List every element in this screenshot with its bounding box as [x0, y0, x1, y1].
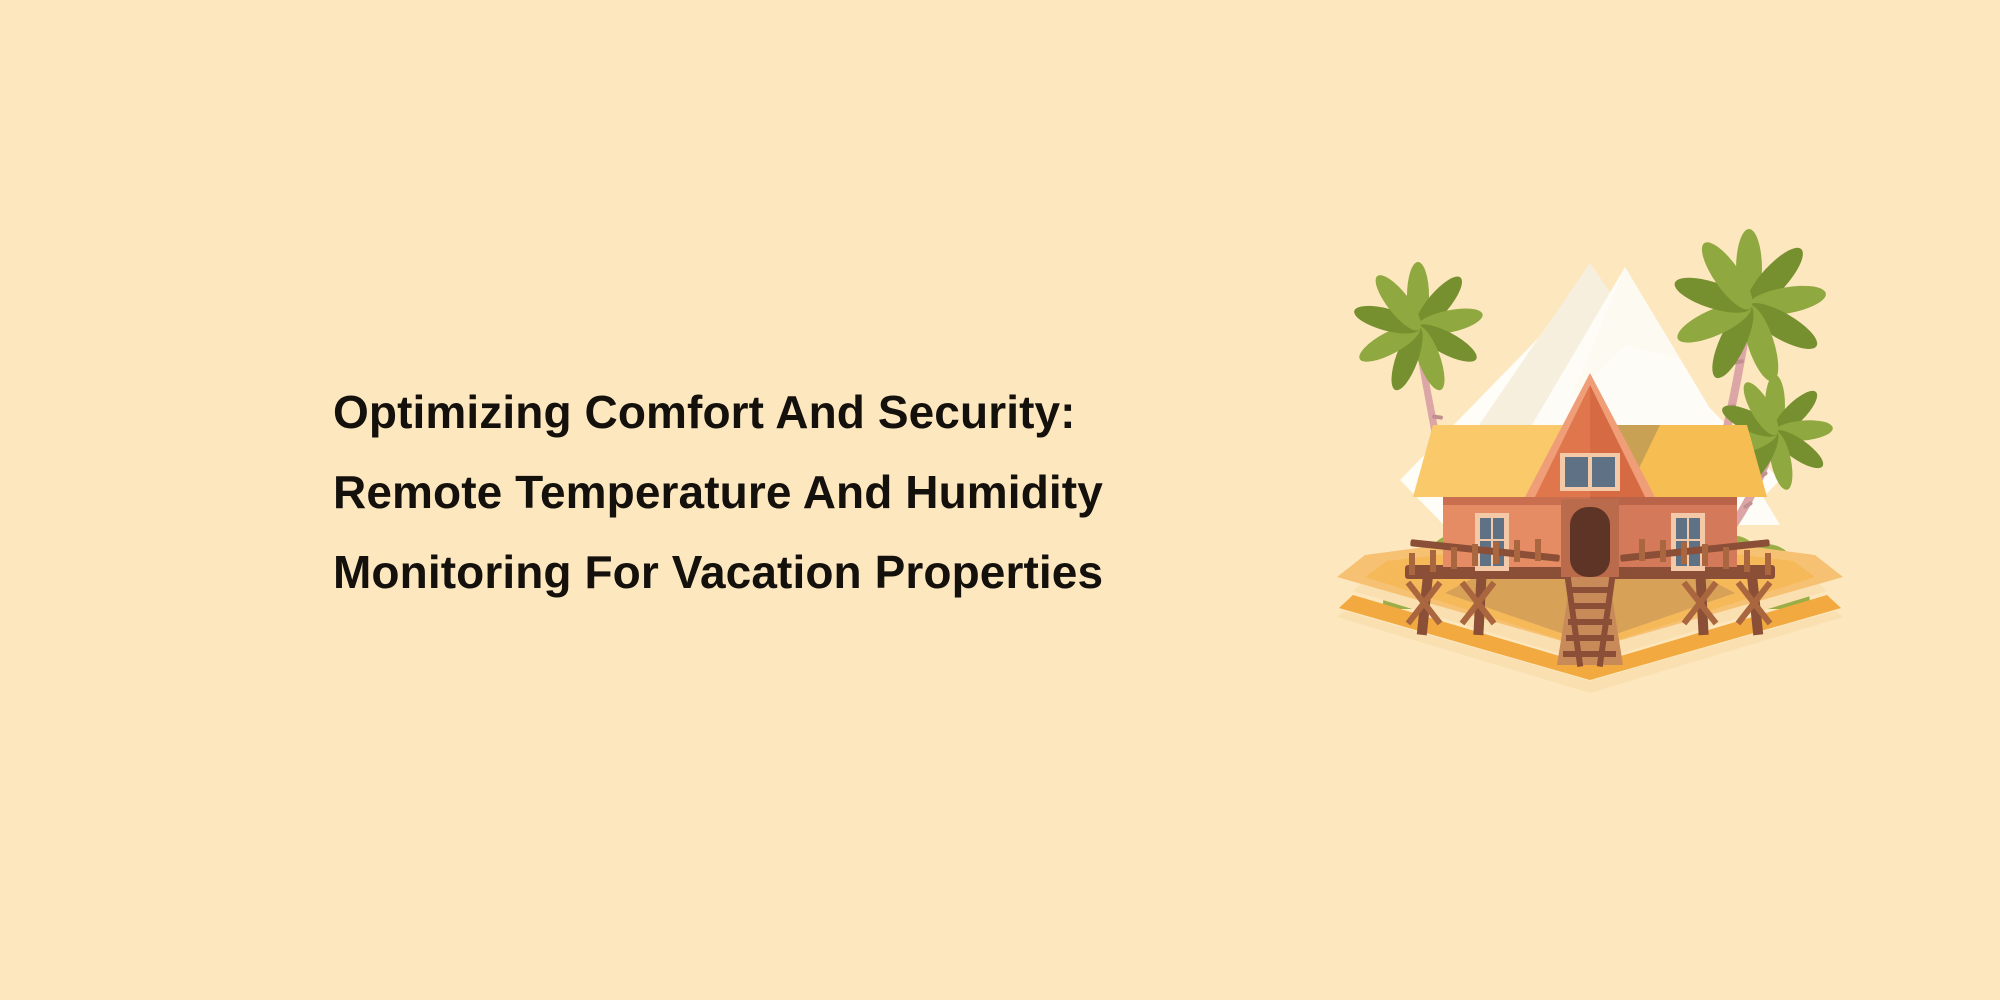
headline-line-3: Monitoring For Vacation Properties [333, 532, 1253, 612]
illustration-svg [1325, 225, 1855, 715]
house-door [1561, 499, 1619, 577]
headline-line-1: Optimizing Comfort And Security: [333, 372, 1253, 452]
beach-stilt-house-illustration [1325, 225, 1855, 715]
house-window-left [1475, 513, 1509, 571]
hero-banner: Optimizing Comfort And Security: Remote … [0, 0, 2000, 1000]
headline-line-2: Remote Temperature And Humidity [333, 452, 1253, 532]
entrance-ladder [1557, 577, 1623, 667]
attic-window [1560, 453, 1620, 491]
house-window-right [1671, 513, 1705, 571]
page-title: Optimizing Comfort And Security: Remote … [333, 372, 1253, 612]
